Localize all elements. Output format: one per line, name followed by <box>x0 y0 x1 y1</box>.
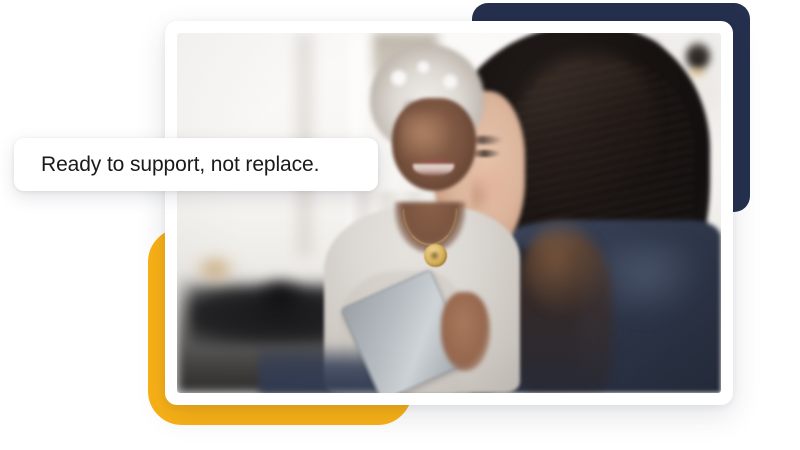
photo-card <box>165 21 733 405</box>
caption-text: Ready to support, not replace. <box>14 154 319 175</box>
younger-woman-hair-wave <box>525 220 601 314</box>
background-lamp-2 <box>686 42 710 70</box>
older-woman-face-highlight <box>400 112 454 162</box>
photo-image <box>177 33 721 393</box>
older-woman-pendant-detail <box>429 250 440 261</box>
background-warm-light <box>193 253 237 285</box>
caption-card: Ready to support, not replace. <box>14 138 378 191</box>
older-woman-hand <box>441 292 490 371</box>
page-root: Ready to support, not replace. <box>0 0 800 450</box>
younger-woman-nose <box>471 177 490 209</box>
background-floor-object-2 <box>253 274 307 317</box>
